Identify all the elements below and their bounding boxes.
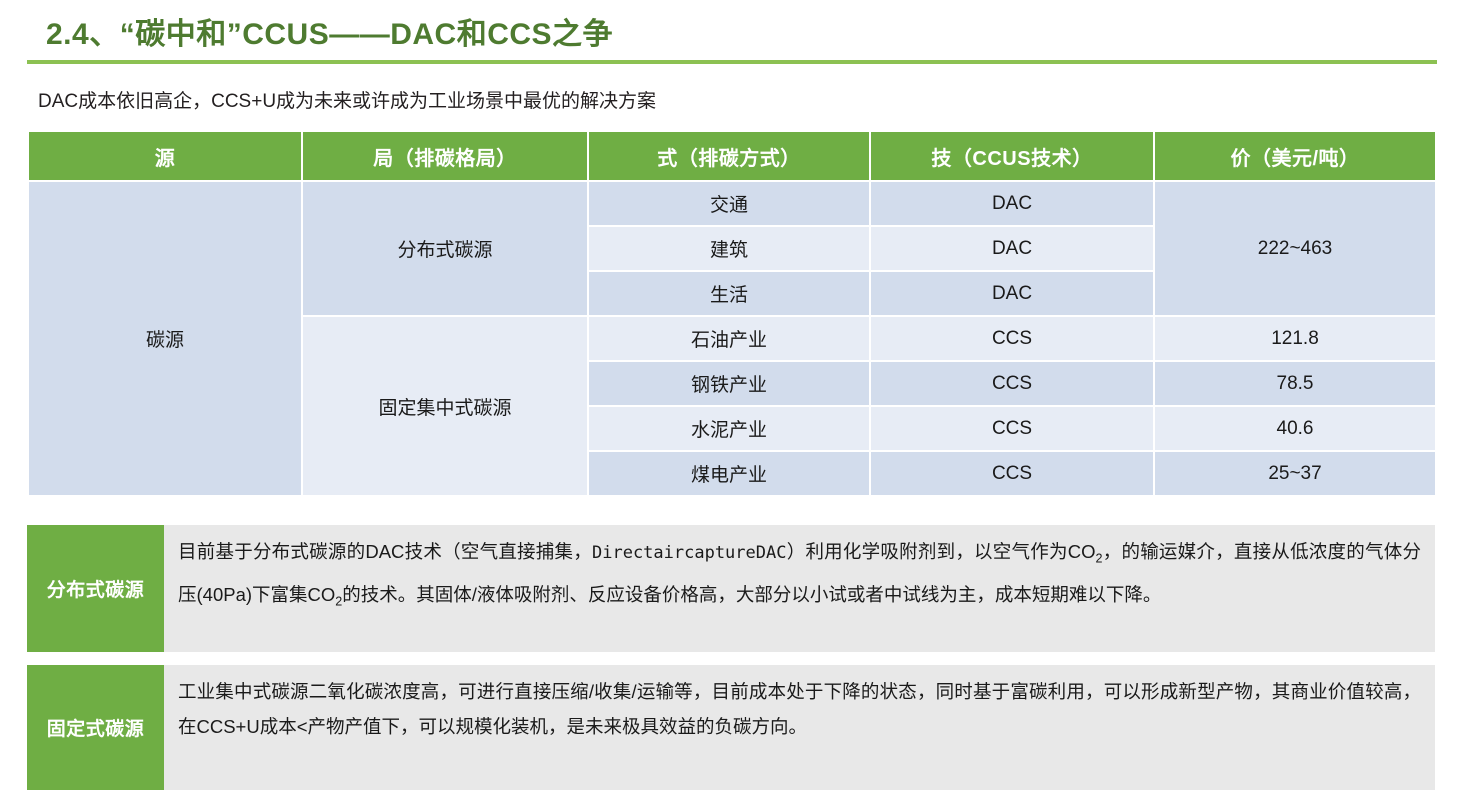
table-row: 碳源分布式碳源交通DAC222~463 <box>29 182 1435 225</box>
note-block-distributed: 分布式碳源 目前基于分布式碳源的DAC技术（空气直接捕集，Directairca… <box>27 525 1435 652</box>
cell-mode: 石油产业 <box>589 317 869 360</box>
cell-mode: 建筑 <box>589 227 869 270</box>
column-header-source: 源 <box>29 132 301 180</box>
note-text-run: DirectaircaptureDAC <box>592 543 786 563</box>
column-header-pattern: 局（排碳格局） <box>303 132 587 180</box>
note-text-run: ）利用化学吸附剂到，以空气作为CO <box>786 541 1095 562</box>
table-body: 碳源分布式碳源交通DAC222~463建筑DAC生活DAC固定集中式碳源石油产业… <box>29 182 1435 495</box>
cell-price: 40.6 <box>1155 407 1435 450</box>
cell-price: 78.5 <box>1155 362 1435 405</box>
cell-tech: CCS <box>871 362 1153 405</box>
note-tag-distributed: 分布式碳源 <box>27 525 164 652</box>
cell-tech: DAC <box>871 227 1153 270</box>
column-header-price: 价（美元/吨） <box>1155 132 1435 180</box>
ccus-comparison-table: 源 局（排碳格局） 式（排碳方式） 技（CCUS技术） 价（美元/吨） 碳源分布… <box>27 130 1437 497</box>
cell-tech: CCS <box>871 317 1153 360</box>
note-block-fixed: 固定式碳源 工业集中式碳源二氧化碳浓度高，可进行直接压缩/收集/运输等，目前成本… <box>27 665 1435 790</box>
cell-price: 25~37 <box>1155 452 1435 495</box>
page-subtitle: DAC成本依旧高企，CCS+U成为未来或许成为工业场景中最优的解决方案 <box>38 86 656 113</box>
cell-tech: CCS <box>871 407 1153 450</box>
cell-mode: 水泥产业 <box>589 407 869 450</box>
title-divider-rule <box>27 60 1437 64</box>
cell-mode: 煤电产业 <box>589 452 869 495</box>
cell-pattern: 固定集中式碳源 <box>303 317 587 495</box>
cell-tech: DAC <box>871 272 1153 315</box>
note-body-fixed: 工业集中式碳源二氧化碳浓度高，可进行直接压缩/收集/运输等，目前成本处于下降的状… <box>164 665 1435 790</box>
cell-pattern: 分布式碳源 <box>303 182 587 315</box>
cell-mode: 钢铁产业 <box>589 362 869 405</box>
cell-price: 222~463 <box>1155 182 1435 315</box>
cell-mode: 交通 <box>589 182 869 225</box>
note-text-run: 工业集中式碳源二氧化碳浓度高，可进行直接压缩/收集/运输等，目前成本处于下降的状… <box>178 681 1421 737</box>
cell-mode: 生活 <box>589 272 869 315</box>
cell-tech: DAC <box>871 182 1153 225</box>
column-header-mode: 式（排碳方式） <box>589 132 869 180</box>
table-head: 源 局（排碳格局） 式（排碳方式） 技（CCUS技术） 价（美元/吨） <box>29 132 1435 180</box>
column-header-tech: 技（CCUS技术） <box>871 132 1153 180</box>
cell-price: 121.8 <box>1155 317 1435 360</box>
page-title: 2.4、“碳中和”CCUS——DAC和CCS之争 <box>46 9 613 53</box>
note-body-distributed: 目前基于分布式碳源的DAC技术（空气直接捕集，DirectaircaptureD… <box>164 525 1435 652</box>
cell-tech: CCS <box>871 452 1153 495</box>
note-tag-fixed: 固定式碳源 <box>27 665 164 790</box>
note-text-run: 目前基于分布式碳源的DAC技术（空气直接捕集， <box>178 541 592 562</box>
table-header-row: 源 局（排碳格局） 式（排碳方式） 技（CCUS技术） 价（美元/吨） <box>29 132 1435 180</box>
note-text-run: 的技术。其固体/液体吸附剂、反应设备价格高，大部分以小试或者中试线为主，成本短期… <box>342 584 1161 605</box>
cell-source: 碳源 <box>29 182 301 495</box>
